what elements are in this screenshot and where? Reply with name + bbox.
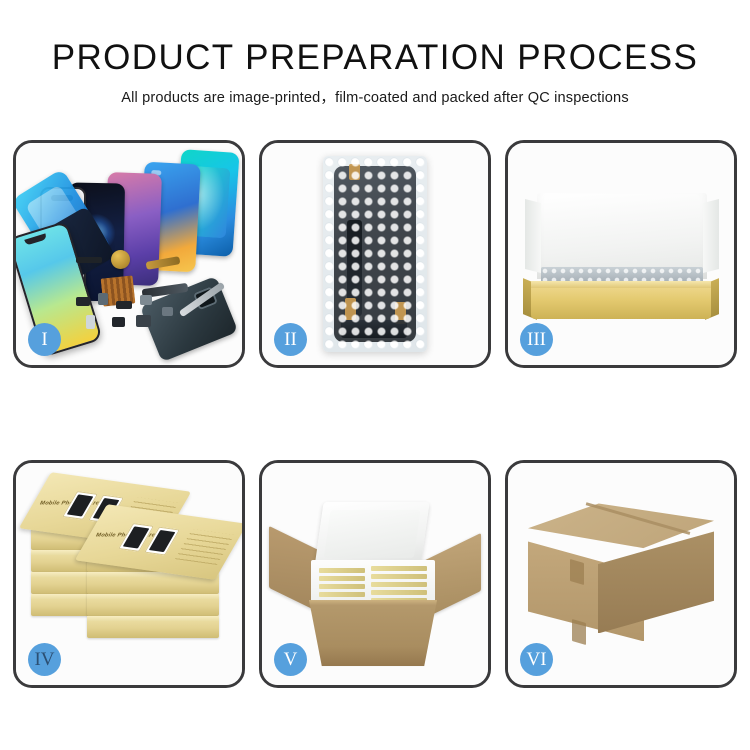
small-components-group [72,291,192,335]
bubble-wrap-package-icon [323,156,427,352]
carton-tape-upper [570,559,584,585]
page-subtitle: All products are image-printed，film-coat… [0,86,750,107]
process-step-4: Mobile Phone Spare Parts Mobile Phone Sp… [13,460,245,688]
sealed-carton-icon [528,503,714,653]
box-front-panel [531,285,711,319]
box-spec-lines-front [175,530,234,566]
carton-tape-lower [572,619,586,645]
process-step-1: I [13,140,245,368]
step-badge-2: II [274,323,307,356]
process-step-2: II [259,140,491,368]
product-preparation-infographic: PRODUCT PREPARATION PROCESS All products… [0,0,750,750]
process-step-6: VI [505,460,737,688]
process-step-grid: I II [13,140,737,692]
open-yellow-box-icon [523,193,719,333]
box-rim [531,281,711,288]
box-edge [87,594,219,616]
packed-boxes-group [319,566,427,604]
process-step-3: III [505,140,737,368]
step-badge-5: V [274,643,307,676]
foam-lid [314,502,429,568]
tape-tab-top [349,164,360,180]
process-step-5: V [259,460,491,688]
speaker-coil-icon [111,250,130,269]
carton-side-face [598,531,714,633]
page-header: PRODUCT PREPARATION PROCESS All products… [0,0,750,107]
step-badge-1: I [28,323,61,356]
page-title: PRODUCT PREPARATION PROCESS [0,38,750,77]
box-edge [87,616,219,638]
open-carton-icon [275,496,475,674]
carton-body [309,600,437,666]
step-badge-4: IV [28,643,61,676]
earpiece-mesh-icon [76,257,102,263]
stacked-boxes-icon: Mobile Phone Spare Parts Mobile Phone Sp… [29,488,229,668]
step-badge-6: VI [520,643,553,676]
connector-strip [341,320,407,338]
step-badge-3: III [520,323,553,356]
tape-tab-left [345,298,356,320]
